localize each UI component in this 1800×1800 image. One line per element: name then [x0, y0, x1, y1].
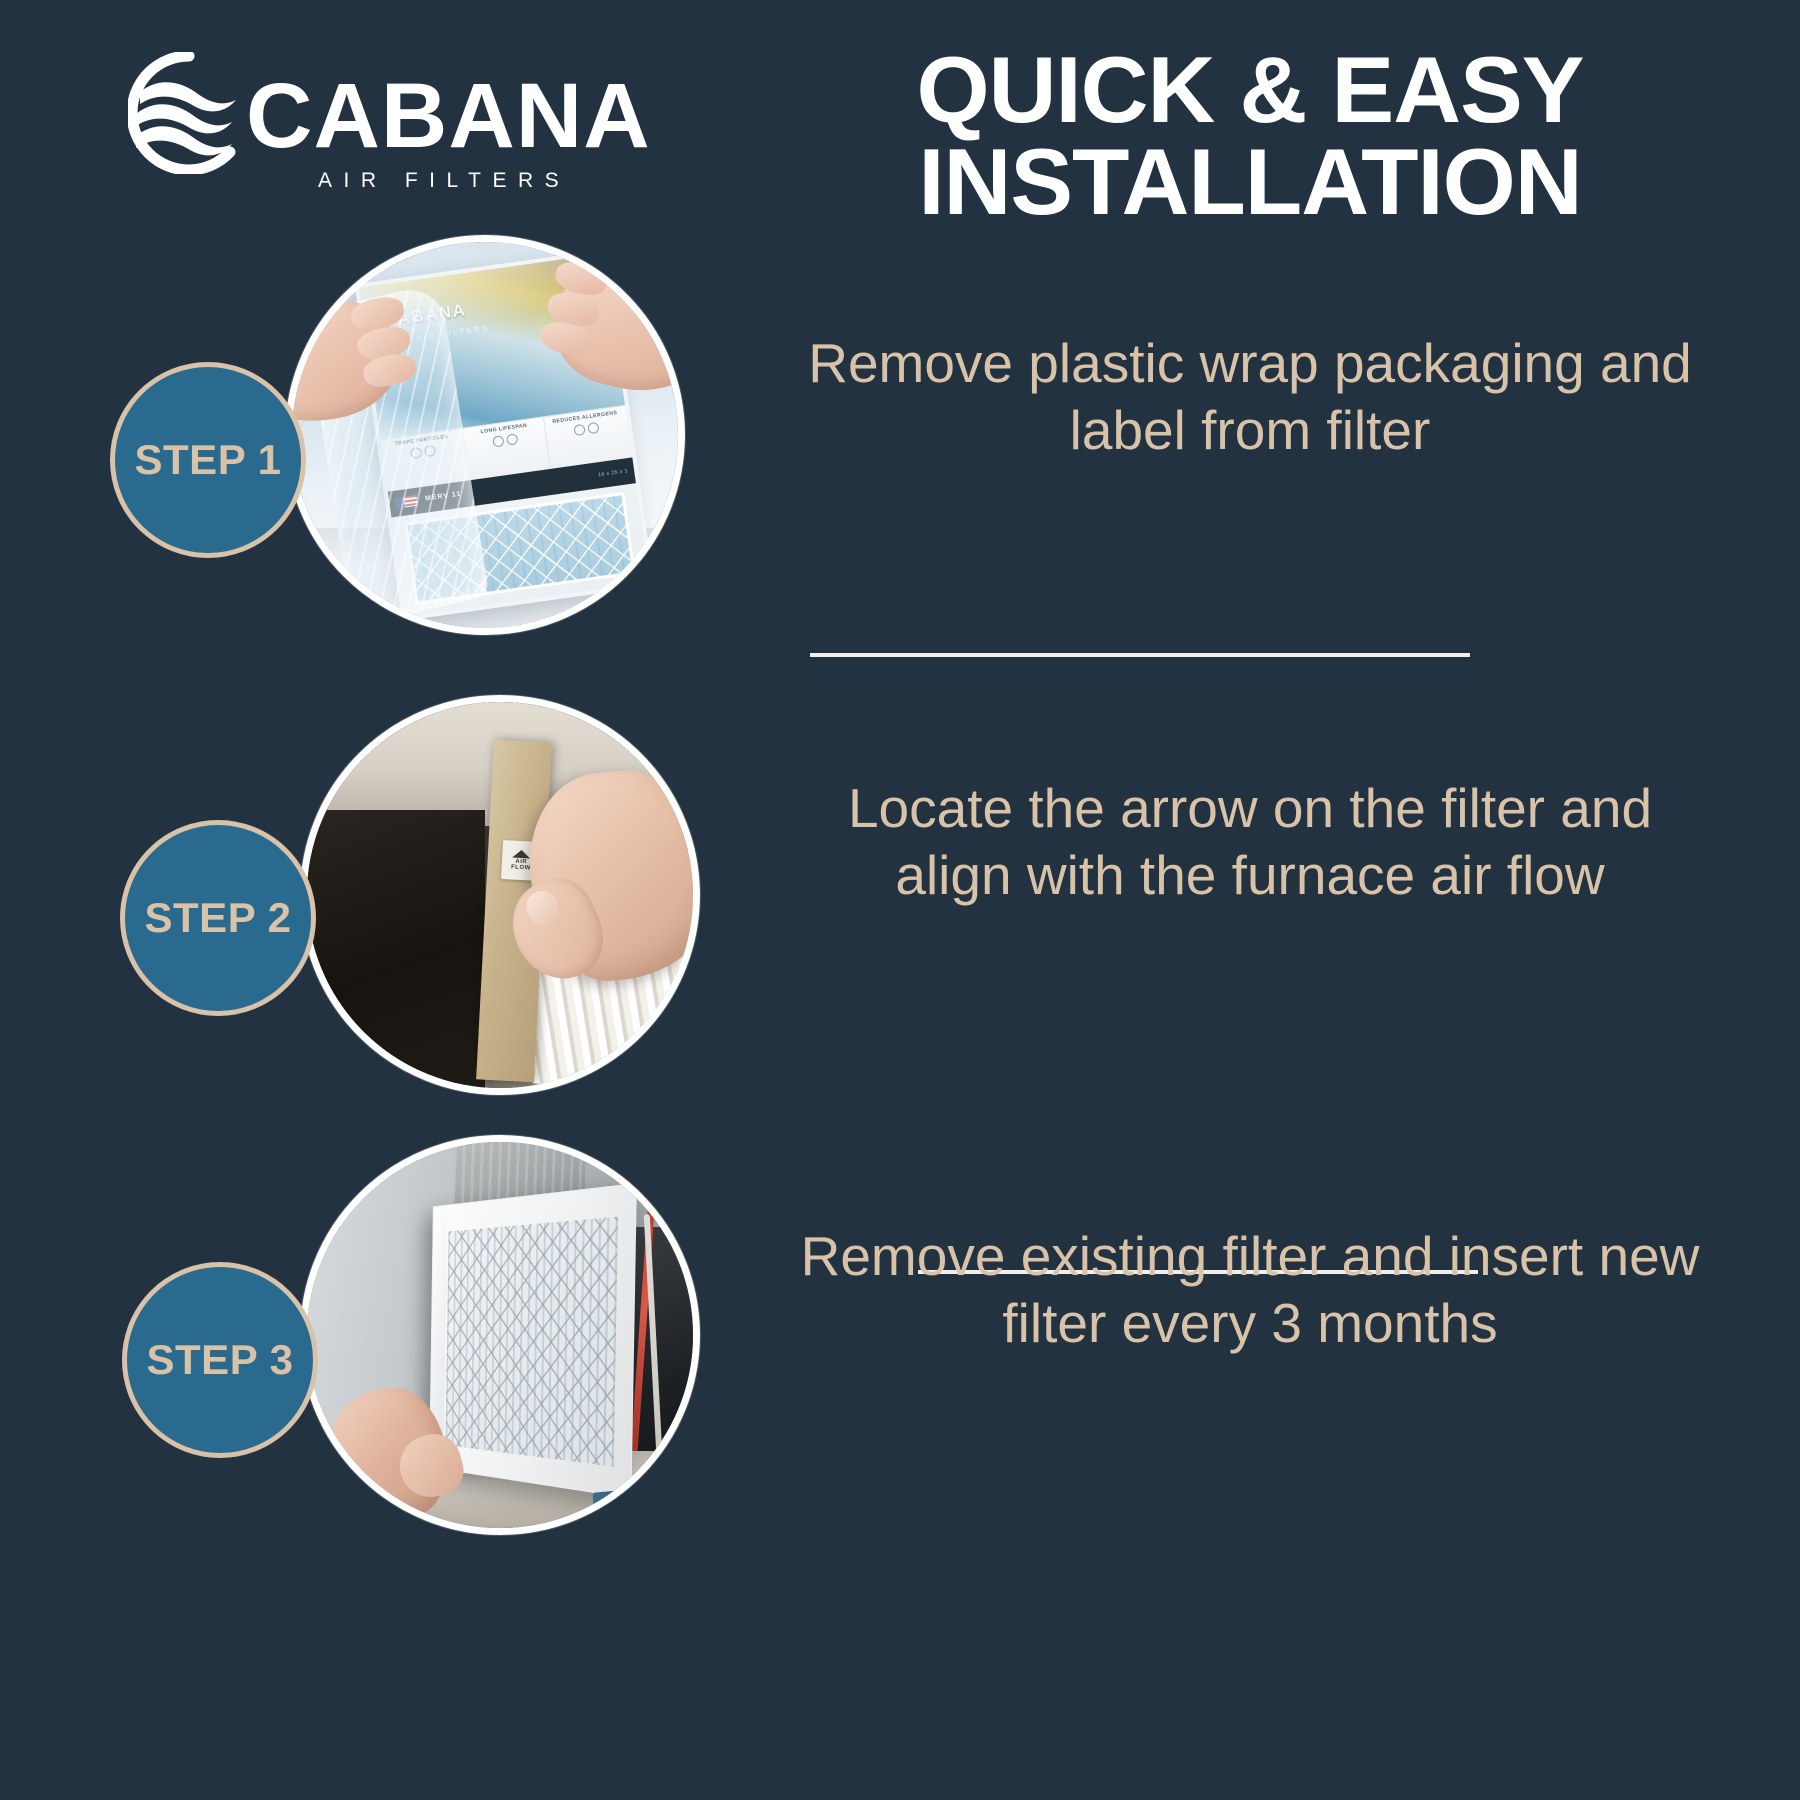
step-row-3: STEP 3 Remove existing filter and insert… [0, 1115, 1800, 1545]
photo-inserting-filter-into-furnace [300, 1135, 700, 1535]
brand-logo: CABANA AIR FILTERS [128, 52, 728, 192]
white-wire [644, 1214, 663, 1453]
headline-line-1: QUICK & EASY [917, 37, 1584, 142]
brand-name: CABANA [246, 70, 651, 162]
filter-size: 16 x 25 x 1 [598, 468, 629, 478]
infographic-page: CABANA AIR FILTERS QUICK & EASY INSTALLA… [0, 0, 1800, 1800]
headline-line-2: INSTALLATION [800, 136, 1700, 228]
brand-wordmark: CABANA AIR FILTERS [246, 70, 651, 191]
step-description-1: Remove plastic wrap packaging and label … [800, 330, 1700, 464]
brand-tagline: AIR FILTERS [246, 170, 651, 191]
filter-media [446, 1217, 619, 1467]
feature-label: LONG LIFESPAN [480, 423, 527, 435]
step-badge-label: STEP 2 [145, 894, 292, 942]
step-badge-label: STEP 1 [135, 436, 282, 484]
photo-hand-aligning-air-flow-arrow: AIR FLOW [300, 695, 700, 1095]
section-divider-1 [810, 653, 1470, 657]
step-description-3: Remove existing filter and insert new fi… [800, 1223, 1700, 1357]
photo-hands-removing-plastic-wrap: CABANA AIR FILTERS TRAPS PARTICLES [285, 235, 685, 635]
step-badge-3: STEP 3 [122, 1262, 318, 1458]
air-flow-text-line-2: FLOW [511, 864, 531, 871]
step-badge-label: STEP 3 [147, 1336, 294, 1384]
pollen-icon [574, 423, 586, 435]
clock-icon [492, 435, 504, 447]
step-badge-1: STEP 1 [110, 362, 306, 558]
calendar-icon [506, 433, 518, 445]
step-badge-2: STEP 2 [120, 820, 316, 1016]
new-filter [429, 1183, 637, 1498]
step-description-2: Locate the arrow on the filter and align… [800, 775, 1700, 909]
cabana-wave-logo-icon [128, 52, 250, 174]
page-title: QUICK & EASY INSTALLATION [800, 44, 1700, 228]
leaf-icon [587, 421, 599, 433]
step-row-2: AIR FLOW STEP 2 Locate the arrow on the … [0, 665, 1800, 1095]
step-row-1: CABANA AIR FILTERS TRAPS PARTICLES [0, 225, 1800, 655]
